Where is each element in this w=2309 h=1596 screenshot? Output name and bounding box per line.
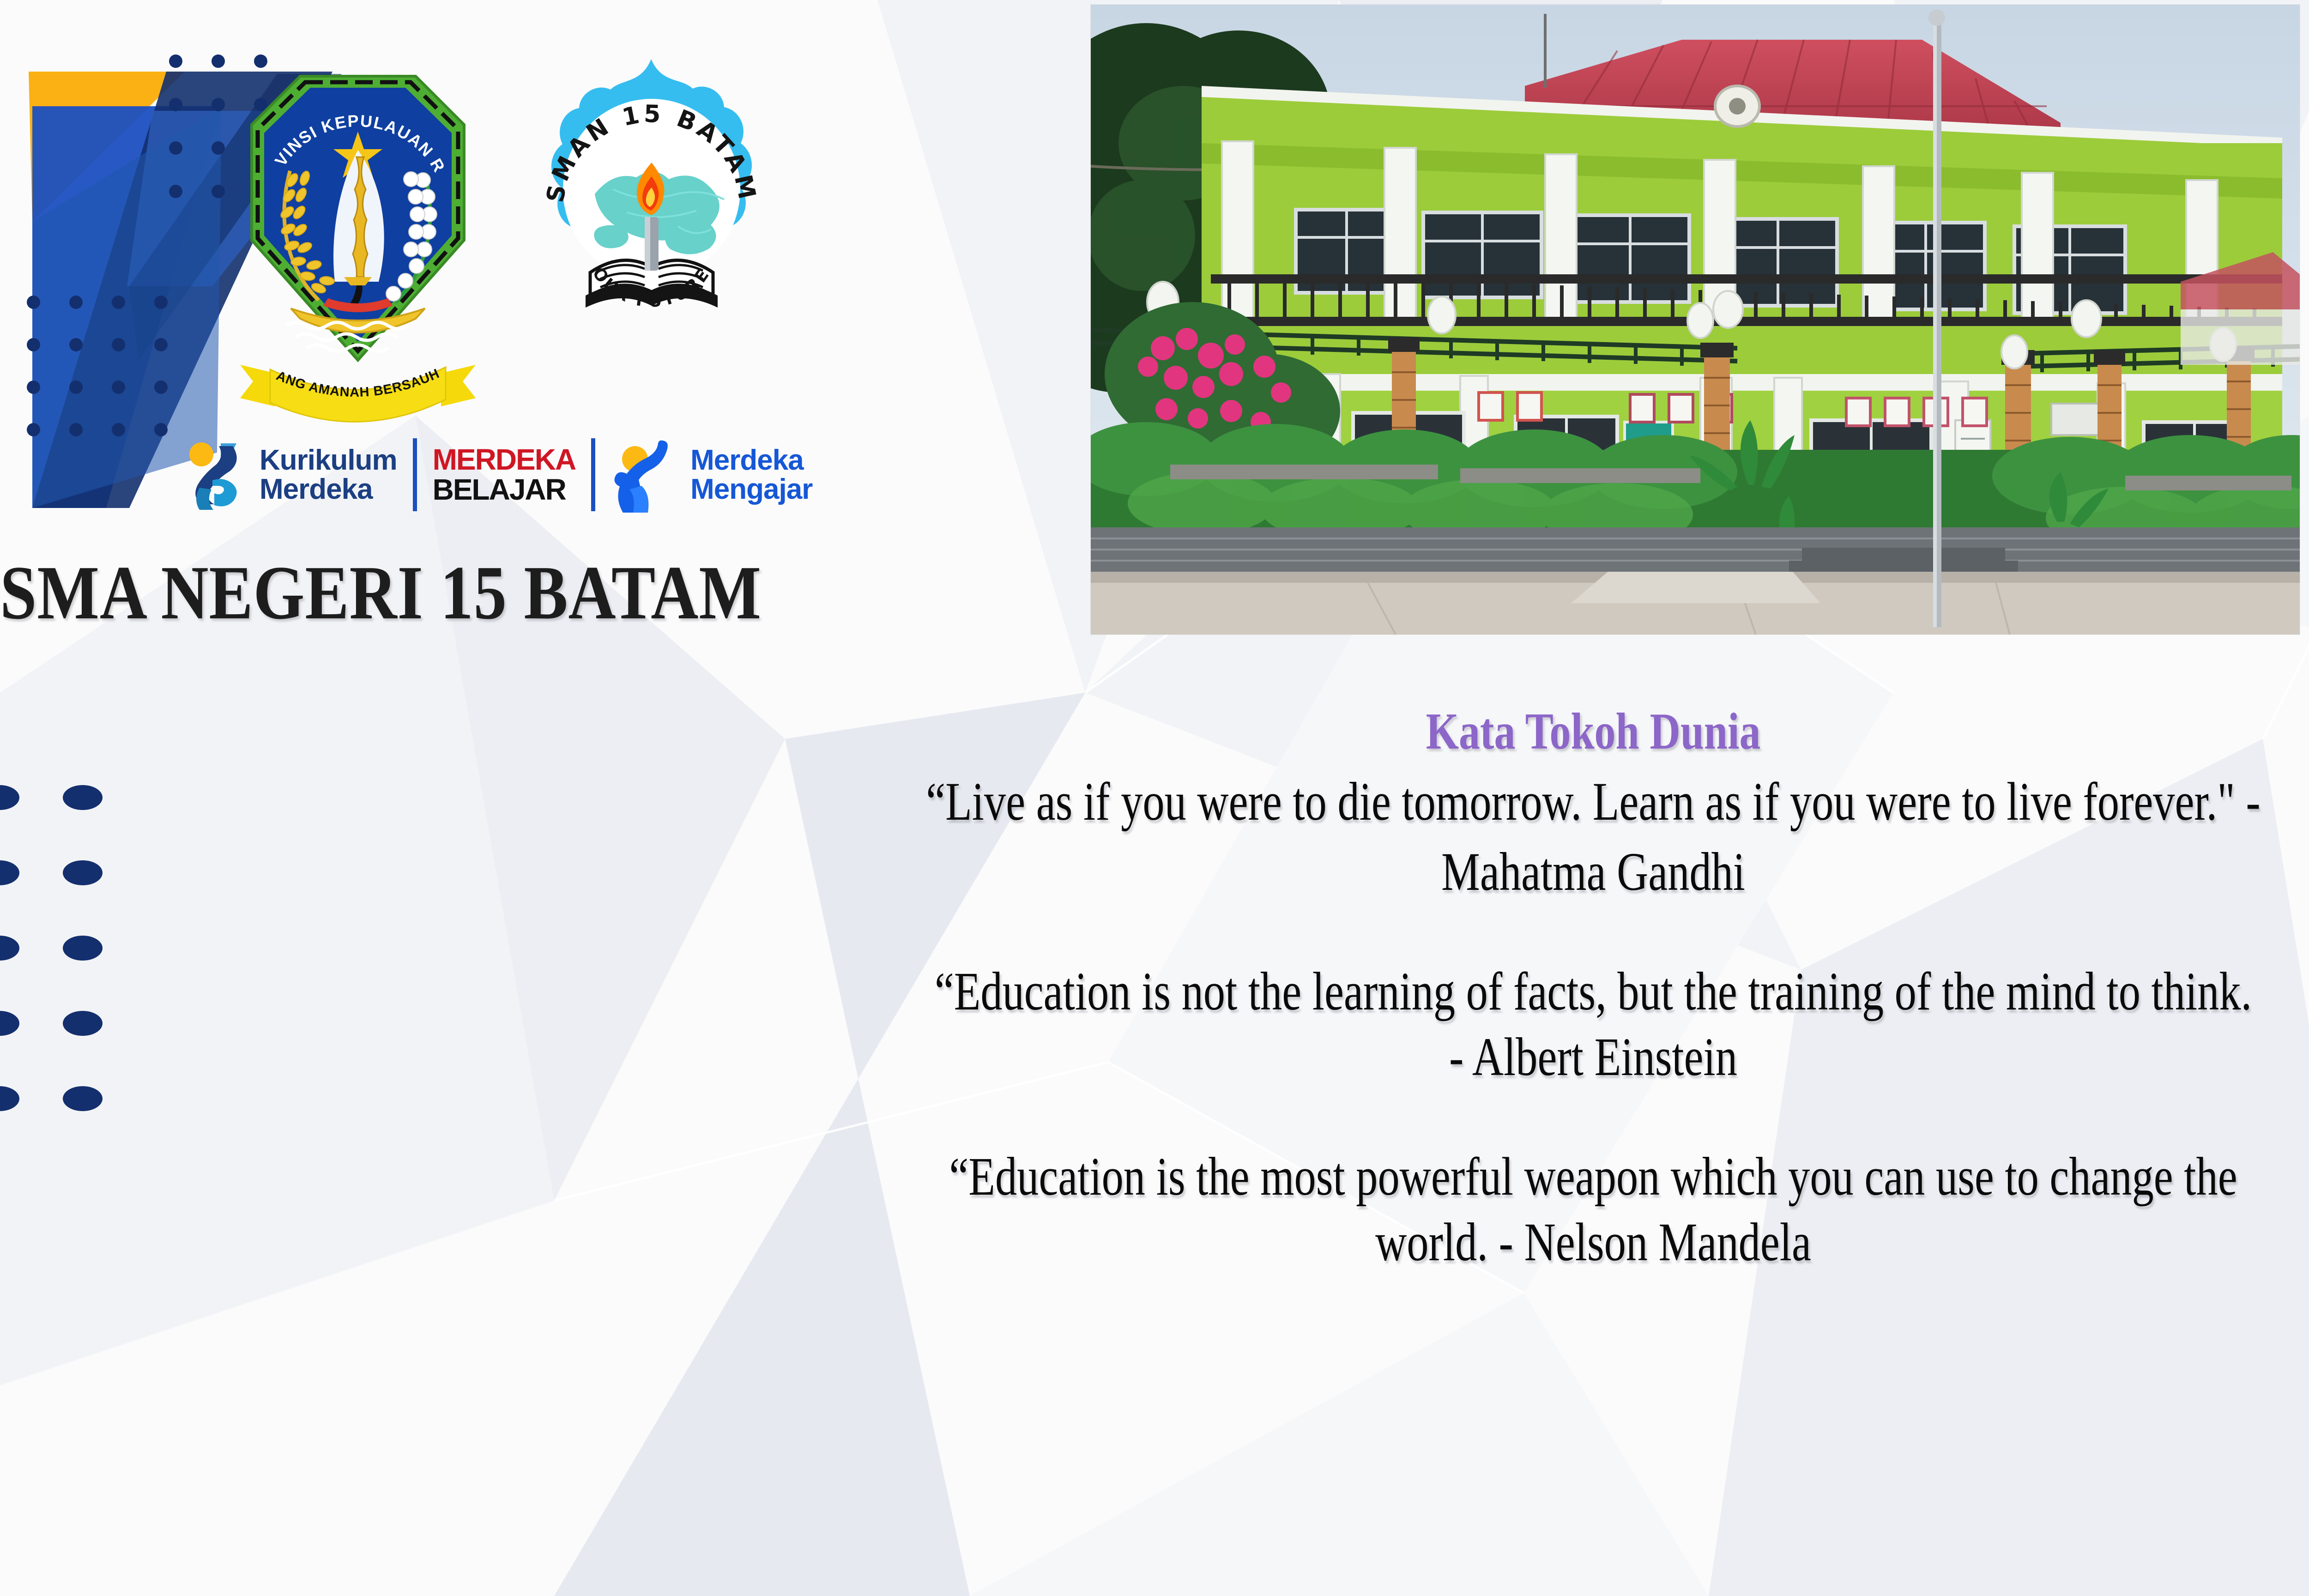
merdeka-mengajar-icon bbox=[611, 436, 680, 514]
quotes-heading: Kata Tokoh Dunia bbox=[552, 702, 2309, 762]
merdeka-belajar-line1: MERDEKA bbox=[433, 445, 576, 475]
merdeka-mengajar-line2: Mengajar bbox=[690, 475, 812, 504]
quote-item: “Education is the most powerful weapon w… bbox=[323, 1144, 2309, 1275]
logo-divider-1 bbox=[413, 438, 417, 511]
logo-merdeka-belajar: MERDEKA BELAJAR bbox=[433, 445, 576, 505]
dot bbox=[63, 860, 103, 885]
kurikulum-merdeka-line1: Kurikulum bbox=[260, 446, 397, 475]
merdeka-mengajar-line1: Merdeka bbox=[690, 446, 812, 475]
dot bbox=[0, 936, 19, 961]
kurikulum-merdeka-icon bbox=[185, 436, 249, 514]
logo-divider-2 bbox=[591, 438, 595, 511]
dot-grid-left-edge bbox=[0, 785, 115, 1114]
dot bbox=[63, 785, 103, 810]
building-illustration bbox=[1091, 5, 2300, 635]
school-building-photo bbox=[1091, 5, 2300, 635]
dot bbox=[0, 1086, 19, 1111]
page-title: SMA NEGERI 15 BATAM bbox=[0, 549, 762, 637]
quote-item: “Education is not the learning of facts,… bbox=[323, 959, 2309, 1089]
dot bbox=[0, 785, 19, 810]
program-logo-strip: Kurikulum Merdeka MERDEKA BELAJAR Merdek… bbox=[185, 429, 873, 521]
logo-kurikulum-merdeka: Kurikulum Merdeka bbox=[185, 436, 397, 514]
merdeka-belajar-line2: BELAJAR bbox=[433, 475, 576, 505]
province-emblem-kepulauan-riau: PROVINSI KEPULAUAN RIAU bbox=[231, 42, 485, 425]
quotes-section: Kata Tokoh Dunia “Live as if you were to… bbox=[323, 702, 2309, 1330]
dot bbox=[0, 1011, 19, 1036]
quote-attribution-line: world. - Nelson Mandela bbox=[577, 1209, 2309, 1275]
quote-text-line: “Live as if you were to die tomorrow. Le… bbox=[577, 769, 2309, 834]
dot bbox=[0, 860, 19, 885]
quote-text-line: “Education is not the learning of facts,… bbox=[577, 959, 2309, 1024]
logo-merdeka-mengajar: Merdeka Mengajar bbox=[611, 436, 812, 514]
dot bbox=[63, 1011, 103, 1036]
school-logo-sman-15-batam: SMAN 15 BATAM OUR FUTURE bbox=[521, 55, 782, 323]
kurikulum-merdeka-line2: Merdeka bbox=[260, 475, 397, 504]
dot bbox=[63, 936, 103, 961]
dot bbox=[63, 1086, 103, 1111]
quote-item: “Live as if you were to die tomorrow. Le… bbox=[323, 769, 2309, 904]
quote-attribution-line: - Albert Einstein bbox=[577, 1024, 2309, 1090]
quote-text-line: “Education is the most powerful weapon w… bbox=[577, 1144, 2309, 1209]
quote-attribution-line: Mahatma Gandhi bbox=[577, 839, 2309, 905]
